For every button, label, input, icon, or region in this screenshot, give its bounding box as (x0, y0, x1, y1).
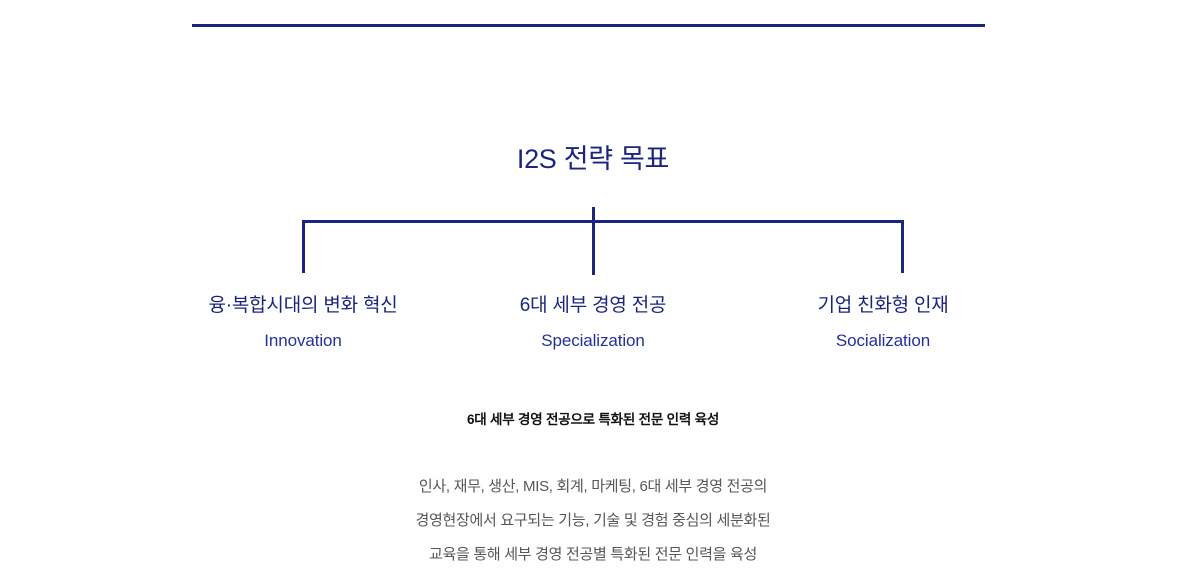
branch-innovation: 융·복합시대의 변화 혁신 Innovation (155, 292, 451, 353)
branch-socialization: 기업 친화형 인재 Socialization (735, 292, 1031, 353)
branch-specialization-korean-label: 6대 세부 경영 전공 (445, 292, 741, 320)
branch-socialization-english-label: Socialization (735, 329, 1031, 353)
connector-horizontal-bus (302, 220, 904, 223)
body-line-3: 교육을 통해 세부 경영 전공별 특화된 전문 인력을 육성 (0, 538, 1186, 568)
connector-stem-top (592, 207, 595, 222)
connector-drop-right (901, 220, 904, 273)
connector-drop-left (302, 220, 305, 273)
connector-drop-center (592, 220, 595, 275)
top-divider-rule (192, 24, 985, 27)
branch-specialization: 6대 세부 경영 전공 Specialization (445, 292, 741, 353)
section-caption: 6대 세부 경영 전공으로 특화된 전문 인력 육성 (0, 410, 1186, 430)
body-line-2: 경영현장에서 요구되는 기능, 기술 및 경험 중심의 세분화된 (0, 504, 1186, 538)
branch-innovation-korean-label: 융·복합시대의 변화 혁신 (155, 292, 451, 320)
branch-socialization-korean-label: 기업 친화형 인재 (735, 292, 1031, 320)
diagram-canvas: I2S 전략 목표 융·복합시대의 변화 혁신 Innovation 6대 세부… (0, 0, 1199, 568)
branch-specialization-english-label: Specialization (445, 329, 741, 353)
page-title: I2S 전략 목표 (0, 140, 1186, 178)
body-line-1: 인사, 재무, 생산, MIS, 회계, 마케팅, 6대 세부 경영 전공의 (0, 470, 1186, 504)
branch-innovation-english-label: Innovation (155, 329, 451, 353)
body-copy: 인사, 재무, 생산, MIS, 회계, 마케팅, 6대 세부 경영 전공의 경… (0, 470, 1186, 568)
branch-row: 융·복합시대의 변화 혁신 Innovation 6대 세부 경영 전공 Spe… (0, 292, 1186, 353)
